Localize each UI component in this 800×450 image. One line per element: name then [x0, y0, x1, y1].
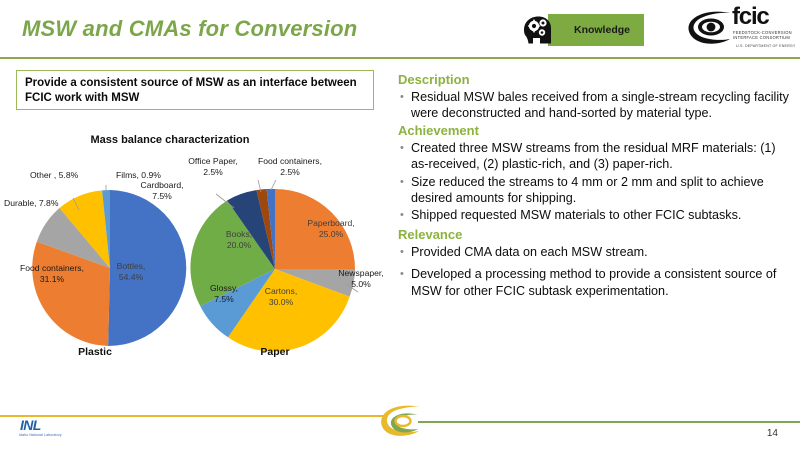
knowledge-badge-label: Knowledge: [560, 14, 644, 46]
pie-label-line-1: Food containers,: [20, 263, 84, 273]
list-item: • Shipped requested MSW materials to oth…: [398, 207, 794, 223]
callout-box: Provide a consistent source of MSW as an…: [16, 70, 374, 110]
list-item: • Residual MSW bales received from a sin…: [398, 89, 794, 122]
section-heading-description: Description: [398, 72, 794, 88]
section-heading-achievement: Achievement: [398, 123, 794, 139]
inl-logo: INL Idaho National Laboratory: [18, 418, 70, 444]
pie-label-line-2: 30.0%: [269, 297, 293, 307]
fcic-doe-line: U.S. DEPARTMENT OF ENERGY: [736, 44, 796, 48]
inl-subtitle: Idaho National Laboratory: [19, 433, 62, 437]
pie-label-line-1: Paperboard,: [307, 218, 354, 228]
bullet-text: Developed a processing method to provide…: [411, 266, 794, 299]
paper-pie-caption: Paper: [230, 346, 320, 358]
pie-label-line-1: Food containers,: [258, 156, 322, 166]
pie-label-line-2: 31.1%: [40, 274, 64, 284]
pie-label-line-1: Books,: [226, 229, 252, 239]
pie-label-paper-glossy: Glossy, 7.5%: [198, 283, 250, 305]
content-panel: Description • Residual MSW bales receive…: [398, 72, 794, 384]
pie-label-line-1: Glossy,: [210, 283, 238, 293]
pie-label-line-1: Cardboard,: [141, 180, 184, 190]
pie-label-line-2: 2.5%: [203, 167, 223, 177]
bullet-icon: •: [398, 266, 411, 282]
bullet-text: Created three MSW streams from the resid…: [411, 140, 794, 173]
footer-rule-left: [0, 415, 385, 417]
fcic-wordmark: fcic: [732, 5, 769, 29]
list-item: • Provided CMA data on each MSW stream.: [398, 244, 794, 260]
bullet-text: Size reduced the streams to 4 mm or 2 mm…: [411, 174, 794, 207]
list-item: • Developed a processing method to provi…: [398, 266, 794, 299]
list-item: • Size reduced the streams to 4 mm or 2 …: [398, 174, 794, 207]
bullet-icon: •: [398, 174, 411, 190]
fcic-leaf-logo-icon: [378, 400, 422, 440]
list-item: • Created three MSW streams from the res…: [398, 140, 794, 173]
pie-label-line-2: 7.5%: [214, 294, 234, 304]
charts-container: Mass balance characterization Other , 5.…: [0, 118, 392, 378]
pie-label-plastic-bottles: Bottles, 54.4%: [104, 261, 158, 283]
pie-label-plastic-food-containers: Food containers, 31.1%: [0, 263, 104, 285]
pie-label-line-2: 2.5%: [280, 167, 300, 177]
plastic-pie-caption: Plastic: [50, 346, 140, 358]
page-title: MSW and CMAs for Conversion: [22, 16, 357, 42]
footer-rule-right: [418, 421, 800, 423]
pie-label-paper-paperboard: Paperboard, 25.0%: [297, 218, 365, 240]
pie-label-plastic-durable: Durable, 7.8%: [4, 198, 58, 209]
section-heading-relevance: Relevance: [398, 227, 794, 243]
pie-label-line-2: 54.4%: [119, 272, 143, 282]
brain-gears-icon: [518, 14, 558, 46]
bullet-icon: •: [398, 89, 411, 105]
pie-label-line-2: 20.0%: [227, 240, 251, 250]
pie-label-paper-food-containers: Food containers, 2.5%: [244, 156, 336, 178]
pie-label-paper-cartons: Cartons, 30.0%: [253, 286, 309, 308]
page-number: 14: [767, 428, 778, 439]
pie-label-line-2: 7.5%: [152, 191, 172, 201]
pie-label-line-1: Bottles,: [117, 261, 146, 271]
pie-label-line-2: 25.0%: [319, 229, 343, 239]
header-divider: [0, 57, 800, 59]
pie-label-line-1: Newspaper,: [338, 268, 383, 278]
fcic-logo: fcic FEEDSTOCK-CONVERSION INTERFACE CONS…: [686, 5, 794, 53]
inl-wordmark: INL: [20, 418, 41, 432]
pie-label-paper-newspaper: Newspaper, 5.0%: [330, 268, 392, 290]
pie-label-line-1: Cartons,: [265, 286, 297, 296]
bullet-icon: •: [398, 244, 411, 260]
bullet-text: Shipped requested MSW materials to other…: [411, 207, 794, 223]
pie-label-line-1: Office Paper,: [188, 156, 238, 166]
pie-label-paper-cardboard: Cardboard, 7.5%: [131, 180, 193, 202]
bullet-text: Residual MSW bales received from a singl…: [411, 89, 794, 122]
pie-label-line-2: 5.0%: [351, 279, 371, 289]
pie-label-plastic-other: Other , 5.8%: [30, 170, 78, 181]
bullet-text: Provided CMA data on each MSW stream.: [411, 244, 794, 260]
chart-title: Mass balance characterization: [0, 134, 340, 146]
bullet-icon: •: [398, 140, 411, 156]
bullet-icon: •: [398, 207, 411, 223]
fcic-subtitle-line-2: INTERFACE CONSORTIUM: [733, 35, 790, 40]
pie-label-paper-books: Books, 20.0%: [214, 229, 264, 251]
pie-label-paper-office-paper: Office Paper, 2.5%: [176, 156, 250, 178]
callout-text: Provide a consistent source of MSW as an…: [25, 76, 369, 106]
knowledge-badge: Knowledge: [518, 14, 644, 46]
